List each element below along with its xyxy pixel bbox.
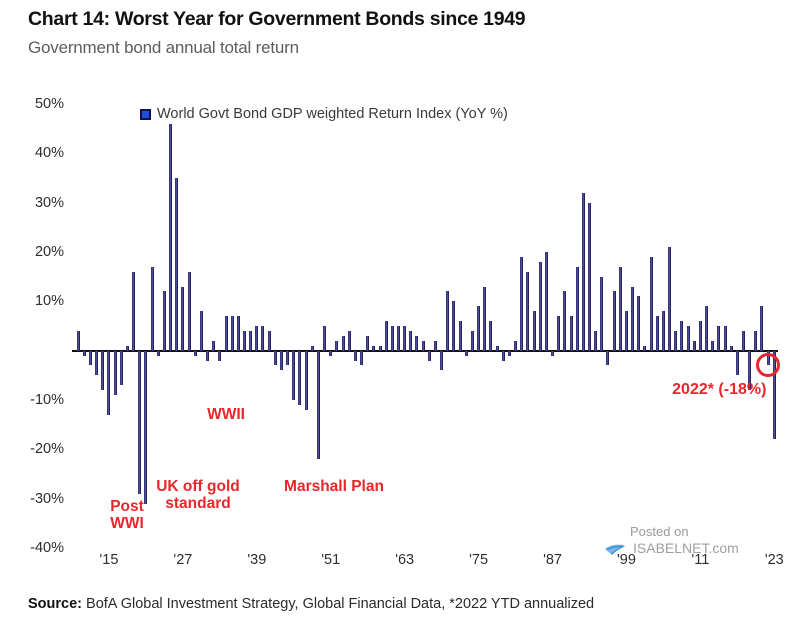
page-subtitle: Government bond annual total return [28,38,299,58]
x-tick-label: '63 [395,552,414,568]
bar [483,287,486,351]
bar [477,306,480,350]
bar [126,346,129,351]
source-note: Source: BofA Global Investment Strategy,… [28,596,594,612]
bar [440,351,443,371]
annotation-2022-return: 2022* (-18%) [672,381,800,399]
bar [249,331,252,351]
bar [317,351,320,460]
x-tick-label: '27 [173,552,192,568]
bar [520,257,523,351]
chart-page: Chart 14: Worst Year for Government Bond… [0,0,800,622]
bar [89,351,92,366]
bar [570,316,573,351]
x-tick-label: '99 [617,552,636,568]
bar [582,193,585,351]
bar [360,351,363,366]
bar [563,291,566,350]
bar [687,326,690,351]
bar [243,331,246,351]
bar [742,331,745,351]
bar [576,267,579,351]
bar [181,287,184,351]
bar [323,326,326,351]
y-tick-label: 30% [20,195,64,211]
bar [194,351,197,356]
bar [354,351,357,361]
bar [489,321,492,351]
x-tick-label: '39 [247,552,266,568]
x-tick-label: '51 [321,552,340,568]
bar [286,351,289,366]
source-text: BofA Global Investment Strategy, Global … [86,596,594,612]
bar [508,351,511,356]
bar [175,178,178,351]
bar [680,321,683,351]
bar [717,326,720,351]
source-label: Source: [28,596,82,612]
x-tick-label: '23 [765,552,784,568]
x-tick-label: '15 [100,552,119,568]
bar [311,346,314,351]
bar [305,351,308,410]
bar [335,341,338,351]
watermark-posted-on: Posted on [604,524,689,540]
bar [736,351,739,376]
bar [496,346,499,351]
bar [225,316,228,351]
bar [446,291,449,350]
bar [268,331,271,351]
bar [705,306,708,350]
bar [724,326,727,351]
y-tick-label: -20% [20,441,64,457]
bar [643,346,646,351]
bar [188,272,191,351]
bar [533,311,536,350]
bar [138,351,141,494]
bar [606,351,609,366]
bar [385,321,388,351]
x-tick-label: '11 [691,552,709,568]
watermark-line-1: Posted on [604,524,739,540]
bar [594,331,597,351]
bar [526,272,529,351]
x-tick-label: '87 [543,552,562,568]
bar [434,341,437,351]
bar [120,351,123,386]
bar [237,316,240,351]
bar [674,331,677,351]
bar [274,351,277,366]
bar [514,341,517,351]
y-tick-label: -30% [20,491,64,507]
annotation-marshall-plan: Marshall Plan [272,478,396,495]
bar [471,331,474,351]
bar [114,351,117,395]
bar [551,351,554,356]
bar [730,346,733,351]
bar [397,326,400,351]
bar [391,326,394,351]
bar [372,346,375,351]
bar [298,351,301,405]
bar [600,277,603,351]
bar [557,316,560,351]
y-tick-label: -10% [20,392,64,408]
bar [261,326,264,351]
bar [77,331,80,351]
bar [422,341,425,351]
bar [711,341,714,351]
bar [151,267,154,351]
bar [415,336,418,351]
bar [613,291,616,350]
y-tick-label: 20% [20,244,64,260]
y-tick-label: 10% [20,293,64,309]
bar [280,351,283,371]
bar [619,267,622,351]
bar [465,351,468,356]
bar [329,351,332,356]
bar [403,326,406,351]
bar [668,247,671,351]
bar [163,291,166,350]
bar [218,351,221,361]
bar [662,311,665,350]
bar [699,321,702,351]
bar [625,311,628,350]
bar [212,341,215,351]
y-tick-label: -40% [20,540,64,556]
bar [409,331,412,351]
bar [157,351,160,356]
watermark-site: ISABELNET.com [633,540,739,558]
bar [101,351,104,390]
bar [132,272,135,351]
bar [545,252,548,351]
bar [502,351,505,361]
bar [292,351,295,400]
bar [588,203,591,351]
page-title: Chart 14: Worst Year for Government Bond… [28,8,525,31]
bar [200,311,203,350]
bar [95,351,98,376]
y-tick-label: 40% [20,145,64,161]
bar [366,336,369,351]
bar [255,326,258,351]
bar [169,124,172,351]
bar [379,346,382,351]
bar [107,351,110,415]
bar [231,316,234,351]
bar [428,351,431,361]
bar [656,316,659,351]
bar [452,301,455,350]
annotation-wwii: WWII [192,406,260,423]
x-tick-label: '75 [469,552,488,568]
bar [342,336,345,351]
y-tick-label: 50% [20,96,64,112]
bar [650,257,653,351]
bar [206,351,209,361]
bar [754,331,757,351]
bar [631,287,634,351]
bar [760,306,763,350]
annotation-uk-off-gold: UK off gold standard [146,478,250,513]
bar [83,351,86,356]
bar [459,321,462,351]
bar [637,296,640,350]
bar [693,341,696,351]
bar [539,262,542,351]
bar [348,331,351,351]
